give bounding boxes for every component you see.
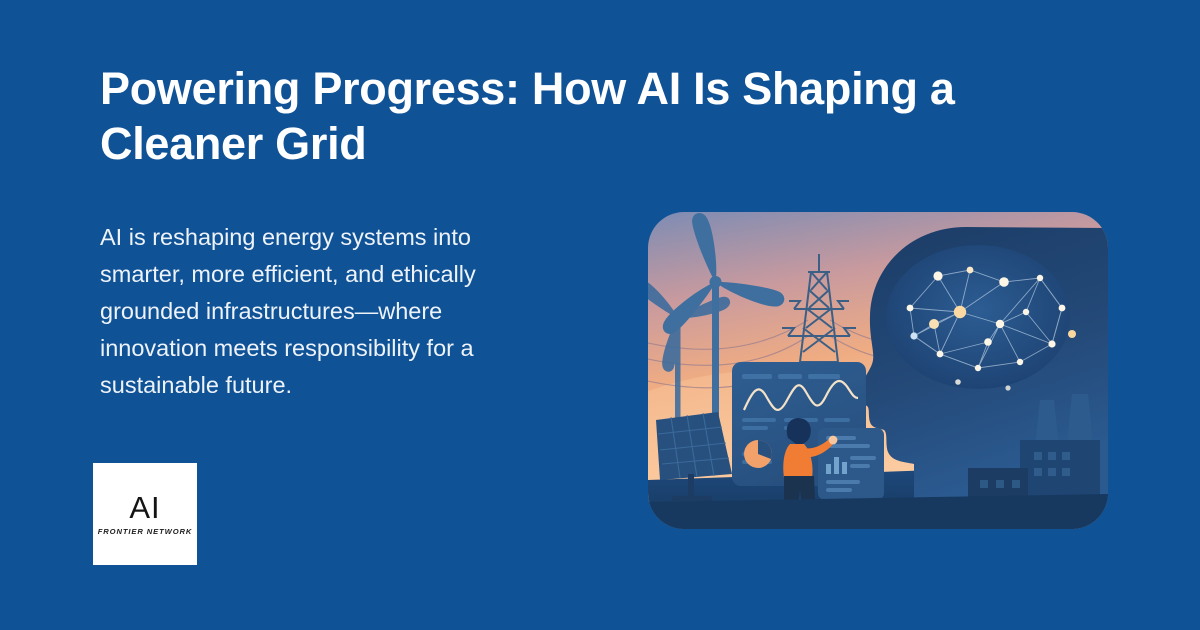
dashboard-panel <box>818 428 884 500</box>
brand-logo[interactable]: AI FRONTIER NETWORK <box>93 463 197 565</box>
logo-mark-text: AI <box>129 492 160 523</box>
text-column: Powering Progress: How AI Is Shaping a C… <box>100 62 570 404</box>
pie-chart <box>744 440 772 468</box>
page-subtitle: AI is reshaping energy systems into smar… <box>100 219 552 405</box>
social-card-banner: Powering Progress: How AI Is Shaping a C… <box>0 0 1200 630</box>
logo-wordmark-text: FRONTIER NETWORK <box>98 527 193 536</box>
page-title: Powering Progress: How AI Is Shaping a C… <box>100 62 1090 172</box>
hero-illustration <box>648 212 1108 529</box>
